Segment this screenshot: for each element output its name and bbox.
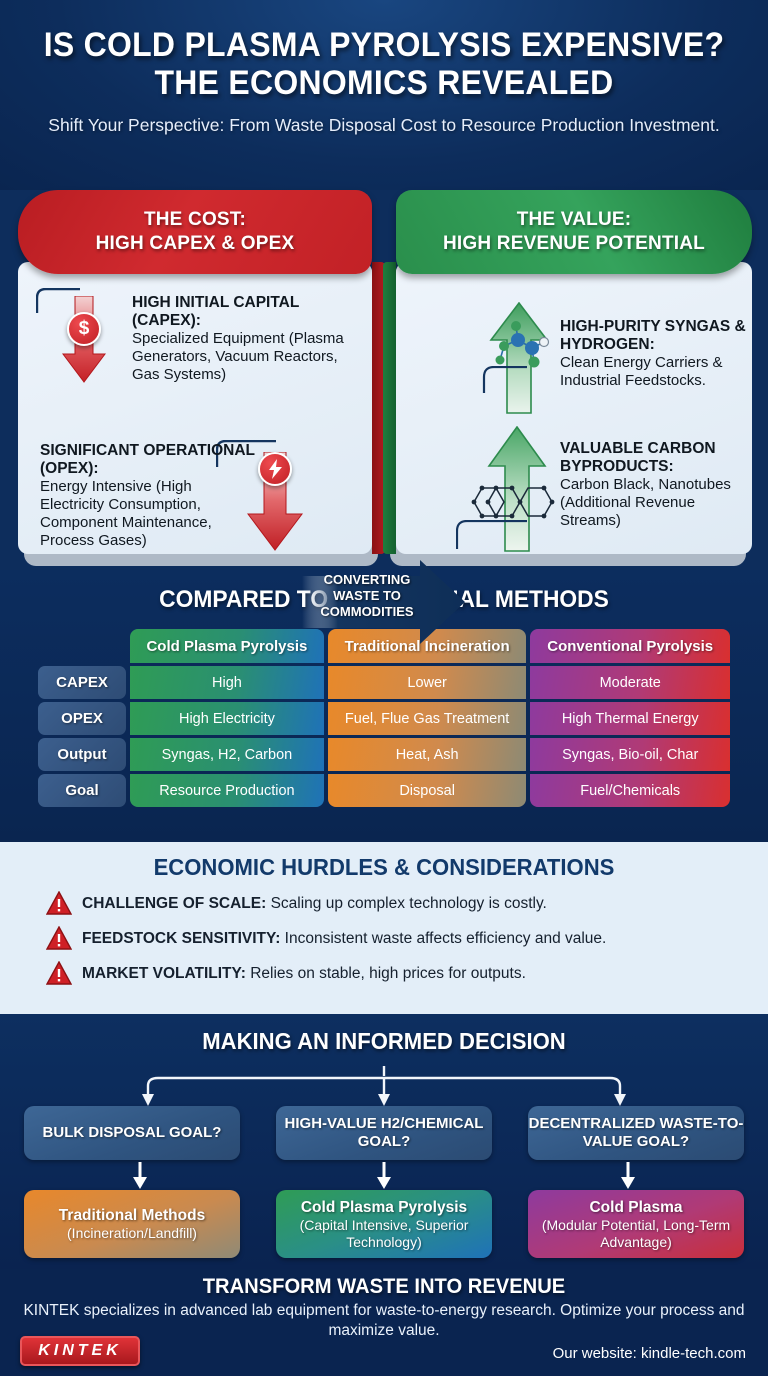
list-item: CHALLENGE OF SCALE: Scaling up complex t… <box>46 891 768 915</box>
opex-bolt-badge-icon <box>258 452 292 486</box>
cell-goal-conventional: Fuel/Chemicals <box>530 774 730 807</box>
page-title-line1: IS COLD PLASMA PYROLYSIS EXPENSIVE? <box>44 26 725 64</box>
value-panel: THE VALUE: HIGH REVENUE POTENTIAL <box>396 190 752 570</box>
warning-triangle-icon <box>46 926 72 950</box>
kintek-logo[interactable]: KINTEK <box>20 1336 140 1366</box>
page-subtitle: Shift Your Perspective: From Waste Dispo… <box>0 114 768 137</box>
answer-head-2: Cold Plasma <box>589 1198 682 1217</box>
row-label-opex: OPEX <box>38 702 126 735</box>
value-header-line2: HIGH REVENUE POTENTIAL <box>443 232 705 256</box>
capex-hook-line-icon <box>36 288 82 314</box>
comparison-table: Cold Plasma Pyrolysis Traditional Incine… <box>34 626 734 810</box>
opex-item-title: SIGNIFICANT OPERATIONAL (OPEX): <box>40 442 258 478</box>
cell-opex-incineration: Fuel, Flue Gas Treatment <box>328 702 527 735</box>
capex-badge-glyph: $ <box>79 318 90 340</box>
table-row: Output Syngas, H2, Carbon Heat, Ash Syng… <box>38 738 730 771</box>
converting-line2: WASTE TO <box>333 588 401 603</box>
cost-panel-header: THE COST: HIGH CAPEX & OPEX <box>18 190 372 274</box>
answer-sub-1: (Capital Intensive, Superior Technology) <box>276 1217 492 1251</box>
converting-arrow: CONVERTING WASTE TO COMMODITIES <box>302 558 466 646</box>
column-header-conventional: Conventional Pyrolysis <box>530 629 730 663</box>
capex-item: HIGH INITIAL CAPITAL (CAPEX): Specialize… <box>132 294 356 384</box>
answer-head-1: Cold Plasma Pyrolysis <box>301 1198 467 1217</box>
syngas-item: HIGH-PURITY SYNGAS & HYDROGEN: Clean Ene… <box>560 318 750 390</box>
decision-connector-lines-icon <box>0 1066 768 1110</box>
molecule-carbon-ring-icon <box>470 478 556 526</box>
table-row: CAPEX High Lower Moderate <box>38 666 730 699</box>
page-title: IS COLD PLASMA PYROLYSIS EXPENSIVE? THE … <box>23 0 745 102</box>
warning-triangle-icon <box>46 891 72 915</box>
cell-capex-incineration: Lower <box>328 666 527 699</box>
cell-goal-incineration: Disposal <box>328 774 527 807</box>
syngas-item-desc: Clean Energy Carriers & Industrial Feeds… <box>560 354 750 390</box>
hurdles-list: CHALLENGE OF SCALE: Scaling up complex t… <box>46 891 768 985</box>
decision-answer-cold-plasma[interactable]: Cold Plasma (Modular Potential, Long-Ter… <box>528 1190 744 1258</box>
infographic-page: IS COLD PLASMA PYROLYSIS EXPENSIVE? THE … <box>0 0 768 1376</box>
hurdle-text-0: CHALLENGE OF SCALE: Scaling up complex t… <box>82 891 547 913</box>
converting-line1: CONVERTING <box>324 572 411 587</box>
value-header-line1: THE VALUE: <box>443 208 705 232</box>
carbon-item-desc: Carbon Black, Nanotubes (Additional Reve… <box>560 476 752 530</box>
row-label-output: Output <box>38 738 126 771</box>
cell-goal-cold-plasma: Resource Production <box>130 774 324 807</box>
bolt-glyph-icon <box>267 459 283 479</box>
cell-output-conventional: Syngas, Bio-oil, Char <box>530 738 730 771</box>
cost-value-section: THE COST: HIGH CAPEX & OPEX $ <box>0 190 768 570</box>
decision-answer-boxes: Traditional Methods (Incineration/Landfi… <box>0 1190 768 1258</box>
row-label-goal: Goal <box>38 774 126 807</box>
page-title-line2: THE ECONOMICS REVEALED <box>23 64 745 102</box>
table-corner-cell <box>38 629 126 663</box>
cell-opex-conventional: High Thermal Energy <box>530 702 730 735</box>
cost-panel: THE COST: HIGH CAPEX & OPEX $ <box>18 190 372 570</box>
converting-arrow-label: CONVERTING WASTE TO COMMODITIES <box>312 572 422 620</box>
capex-dollar-badge-icon: $ <box>67 312 101 346</box>
footer-body: KINTEK specializes in advanced lab equip… <box>0 1301 768 1341</box>
cell-opex-cold-plasma: High Electricity <box>130 702 324 735</box>
cost-header-line2: HIGH CAPEX & OPEX <box>96 232 295 256</box>
answer-head-0: Traditional Methods <box>59 1206 205 1225</box>
list-item: FEEDSTOCK SENSITIVITY: Inconsistent wast… <box>46 926 768 950</box>
decision-title: MAKING AN INFORMED DECISION <box>15 1014 752 1055</box>
table-row: Goal Resource Production Disposal Fuel/C… <box>38 774 730 807</box>
decision-answer-cold-plasma-pyrolysis[interactable]: Cold Plasma Pyrolysis (Capital Intensive… <box>276 1190 492 1258</box>
answer-sub-2: (Modular Potential, Long-Term Advantage) <box>528 1217 744 1251</box>
cell-capex-conventional: Moderate <box>530 666 730 699</box>
comparison-table-wrap: Cold Plasma Pyrolysis Traditional Incine… <box>34 626 734 810</box>
opex-item-desc: Energy Intensive (High Electricity Consu… <box>40 478 258 550</box>
decision-question-high-value[interactable]: HIGH-VALUE H2/CHEMICAL GOAL? <box>276 1106 492 1160</box>
syngas-hook-line-icon <box>482 366 528 394</box>
cell-output-cold-plasma: Syngas, H2, Carbon <box>130 738 324 771</box>
decision-question-decentralized[interactable]: DECENTRALIZED WASTE-TO-VALUE GOAL? <box>528 1106 744 1160</box>
table-row: OPEX High Electricity Fuel, Flue Gas Tre… <box>38 702 730 735</box>
converting-line3: COMMODITIES <box>320 604 413 619</box>
list-item: MARKET VOLATILITY: Relies on stable, hig… <box>46 961 768 985</box>
decision-section: MAKING AN INFORMED DECISION BULK DISPOSA… <box>0 1014 768 1269</box>
warning-triangle-icon <box>46 961 72 985</box>
answer-sub-0: (Incineration/Landfill) <box>67 1225 197 1242</box>
hurdles-title: ECONOMIC HURDLES & CONSIDERATIONS <box>15 842 752 881</box>
hurdle-desc-1: Inconsistent waste affects efficiency an… <box>280 930 606 947</box>
row-label-capex: CAPEX <box>38 666 126 699</box>
decision-answer-traditional-methods[interactable]: Traditional Methods (Incineration/Landfi… <box>24 1190 240 1258</box>
capex-item-title: HIGH INITIAL CAPITAL (CAPEX): <box>132 294 356 330</box>
hurdle-label-2: MARKET VOLATILITY: <box>82 965 246 982</box>
molecule-syngas-icon <box>492 318 550 372</box>
hurdle-label-1: FEEDSTOCK SENSITIVITY: <box>82 930 280 947</box>
cell-output-incineration: Heat, Ash <box>328 738 527 771</box>
hurdle-text-2: MARKET VOLATILITY: Relies on stable, hig… <box>82 961 526 983</box>
decision-mid-arrows-icon <box>0 1162 768 1192</box>
footer-section: TRANSFORM WASTE INTO REVENUE KINTEK spec… <box>0 1269 768 1376</box>
decision-question-boxes: BULK DISPOSAL GOAL? HIGH-VALUE H2/CHEMIC… <box>0 1106 768 1160</box>
footer-headline: TRANSFORM WASTE INTO REVENUE <box>15 1269 752 1299</box>
opex-item: SIGNIFICANT OPERATIONAL (OPEX): Energy I… <box>40 442 258 550</box>
capex-item-desc: Specialized Equipment (Plasma Generators… <box>132 330 356 384</box>
hero-section: IS COLD PLASMA PYROLYSIS EXPENSIVE? THE … <box>0 0 768 190</box>
decision-question-bulk-disposal[interactable]: BULK DISPOSAL GOAL? <box>24 1106 240 1160</box>
carbon-hook-line-icon <box>456 520 528 550</box>
hurdle-desc-0: Scaling up complex technology is costly. <box>266 895 547 912</box>
carbon-item: VALUABLE CARBON BYPRODUCTS: Carbon Black… <box>560 440 752 530</box>
cell-capex-cold-plasma: High <box>130 666 324 699</box>
cost-header-line1: THE COST: <box>96 208 295 232</box>
hurdle-desc-2: Relies on stable, high prices for output… <box>246 965 526 982</box>
hurdle-label-0: CHALLENGE OF SCALE: <box>82 895 266 912</box>
carbon-item-title: VALUABLE CARBON BYPRODUCTS: <box>560 440 752 476</box>
footer-website[interactable]: Our website: kindle-tech.com <box>553 1345 746 1362</box>
syngas-item-title: HIGH-PURITY SYNGAS & HYDROGEN: <box>560 318 750 354</box>
hurdles-section: ECONOMIC HURDLES & CONSIDERATIONS CHALLE… <box>0 842 768 1014</box>
hurdle-text-1: FEEDSTOCK SENSITIVITY: Inconsistent wast… <box>82 926 606 948</box>
column-header-cold-plasma: Cold Plasma Pyrolysis <box>130 629 324 663</box>
value-panel-edge <box>383 262 396 554</box>
value-panel-header: THE VALUE: HIGH REVENUE POTENTIAL <box>396 190 752 274</box>
